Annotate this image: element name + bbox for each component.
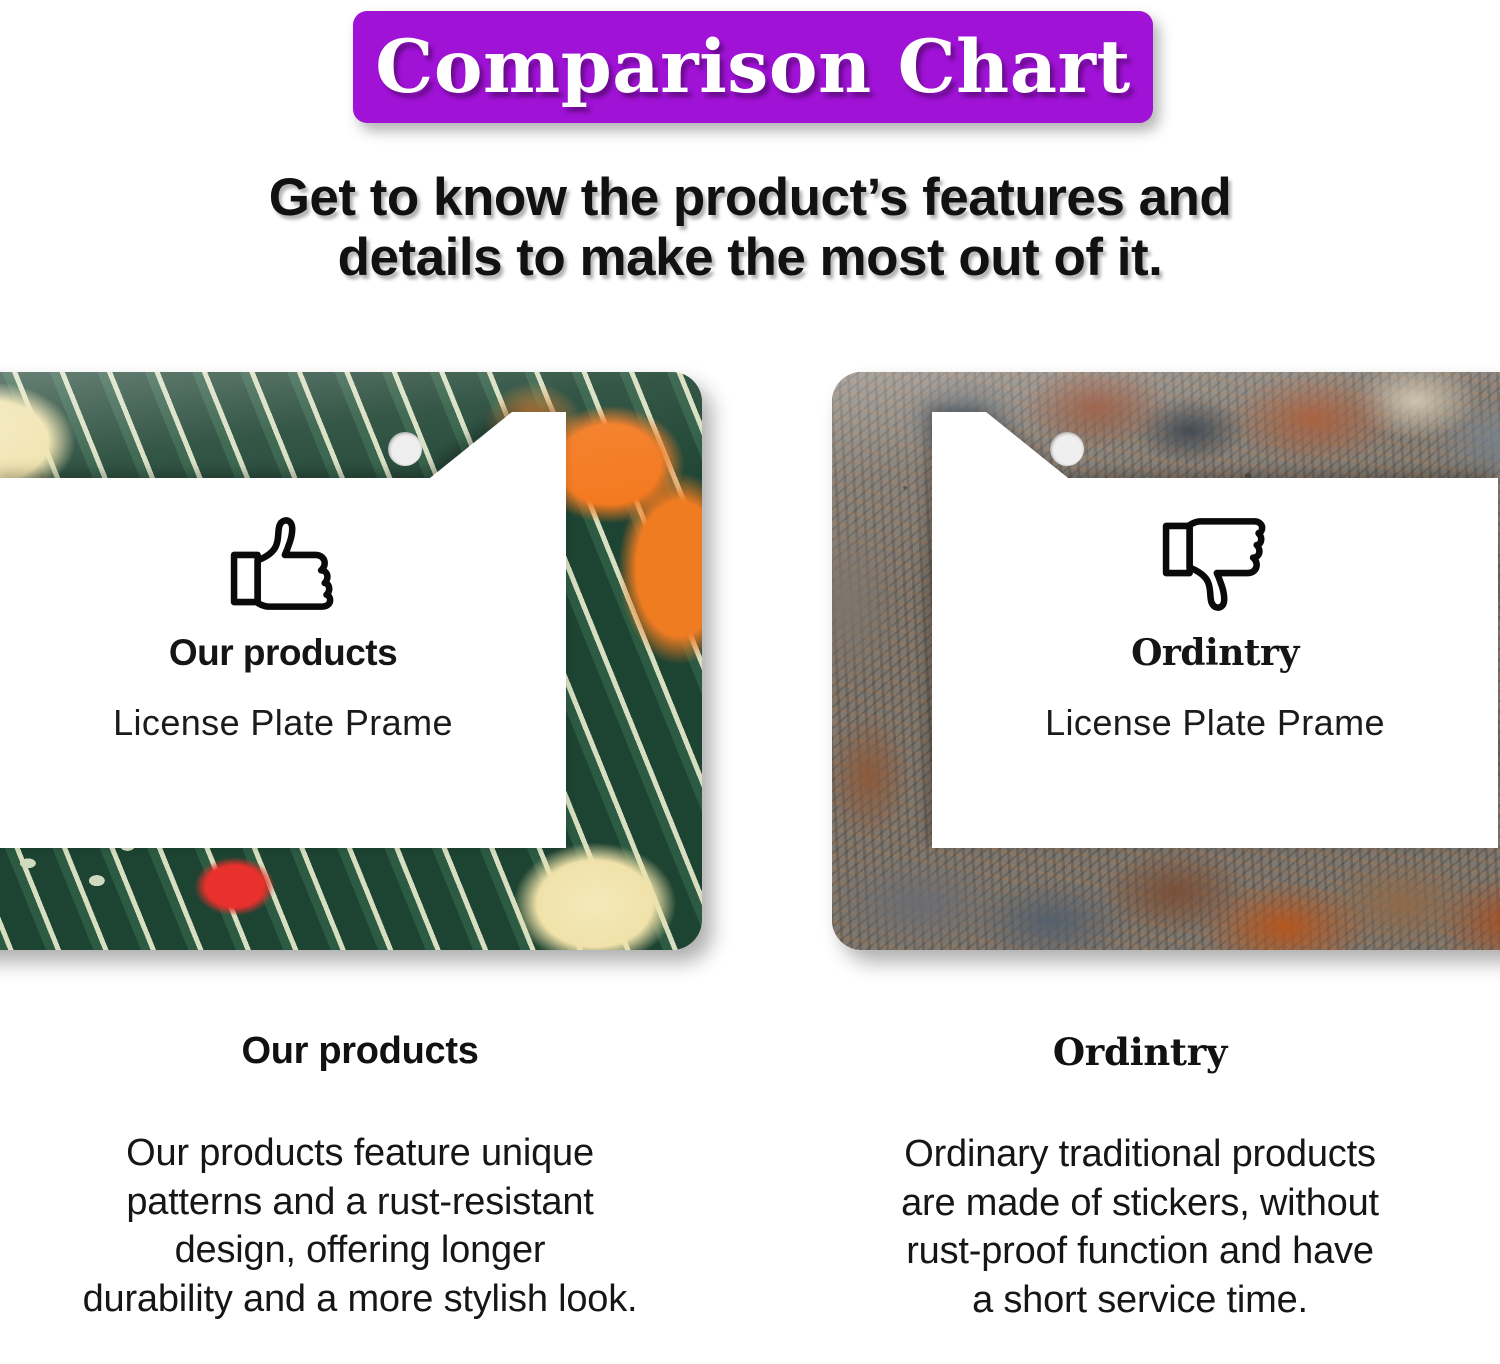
comparison-descriptions: Our products Our products feature unique… bbox=[0, 1030, 1500, 1364]
license-plate-frame-ordinary: Ordintry License Plate Prame bbox=[832, 372, 1500, 950]
comparison-chart-page: Comparison Chart Get to know the product… bbox=[0, 0, 1500, 1364]
mounting-hole-right bbox=[1050, 432, 1084, 466]
description-heading-ordinary: Ordintry bbox=[790, 1030, 1490, 1074]
frame-window-content-right: Ordintry License Plate Prame bbox=[932, 478, 1498, 848]
plate-title-left: Our products bbox=[169, 632, 397, 674]
description-heading-ours: Our products bbox=[10, 1030, 710, 1073]
thumbs-down-icon bbox=[1157, 506, 1273, 622]
plate-subtitle-right: License Plate Prame bbox=[1045, 702, 1385, 744]
plate-title-right: Ordintry bbox=[1131, 632, 1299, 674]
plate-subtitle-left: License Plate Prame bbox=[113, 702, 453, 744]
description-body-ordinary: Ordinary traditional products are made o… bbox=[790, 1130, 1490, 1325]
license-plate-frame-ours: Our products License Plate Prame bbox=[0, 372, 702, 950]
mounting-hole-left bbox=[388, 432, 422, 466]
thumbs-up-icon bbox=[225, 506, 341, 622]
description-column-ordinary: Ordintry Ordinary traditional products a… bbox=[790, 1030, 1490, 1325]
description-body-ours: Our products feature unique patterns and… bbox=[10, 1129, 710, 1324]
frame-window-content-left: Our products License Plate Prame bbox=[0, 478, 566, 848]
description-column-ours: Our products Our products feature unique… bbox=[10, 1030, 710, 1324]
